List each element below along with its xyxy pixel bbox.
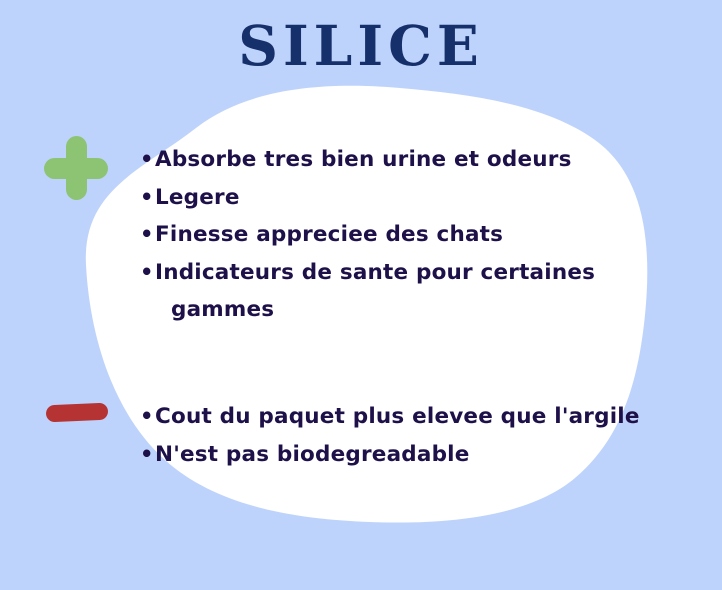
list-item-line: N'est pas biodegreadable — [155, 436, 470, 474]
list-item: • Finesse appreciee des chats — [140, 216, 595, 254]
list-item: • Cout du paquet plus elevee que l'argil… — [140, 398, 640, 436]
list-item-line: gammes — [155, 291, 595, 329]
cons-list: • Cout du paquet plus elevee que l'argil… — [140, 398, 640, 473]
bullet-icon: • — [140, 179, 155, 217]
list-item: • Indicateurs de sante pour certaines ga… — [140, 254, 595, 329]
bullet-icon: • — [140, 216, 155, 254]
poster-canvas: SILICE • Absorbe tres bien urine et odeu… — [0, 0, 722, 590]
list-item-text: Cout du paquet plus elevee que l'argile — [155, 398, 640, 436]
bullet-icon: • — [140, 436, 155, 474]
list-item-text: Absorbe tres bien urine et odeurs — [155, 141, 572, 179]
list-item-text: N'est pas biodegreadable — [155, 436, 470, 474]
plus-icon-vertical-bar — [66, 136, 87, 200]
list-item-line: Finesse appreciee des chats — [155, 216, 503, 254]
list-item-line: Cout du paquet plus elevee que l'argile — [155, 398, 640, 436]
bullet-icon: • — [140, 398, 155, 436]
list-item: • Legere — [140, 179, 595, 217]
bullet-icon: • — [140, 141, 155, 179]
list-item-text: Indicateurs de sante pour certaines gamm… — [155, 254, 595, 329]
list-item-text: Legere — [155, 179, 240, 217]
list-item-line: Indicateurs de sante pour certaines — [155, 254, 595, 292]
pros-list: • Absorbe tres bien urine et odeurs • Le… — [140, 141, 595, 329]
list-item-line: Absorbe tres bien urine et odeurs — [155, 141, 572, 179]
list-item-text: Finesse appreciee des chats — [155, 216, 503, 254]
page-title: SILICE — [0, 18, 722, 73]
list-item: • Absorbe tres bien urine et odeurs — [140, 141, 595, 179]
bullet-icon: • — [140, 254, 155, 292]
plus-icon — [44, 136, 108, 200]
minus-icon — [46, 403, 109, 423]
list-item: • N'est pas biodegreadable — [140, 436, 640, 474]
list-item-line: Legere — [155, 179, 240, 217]
